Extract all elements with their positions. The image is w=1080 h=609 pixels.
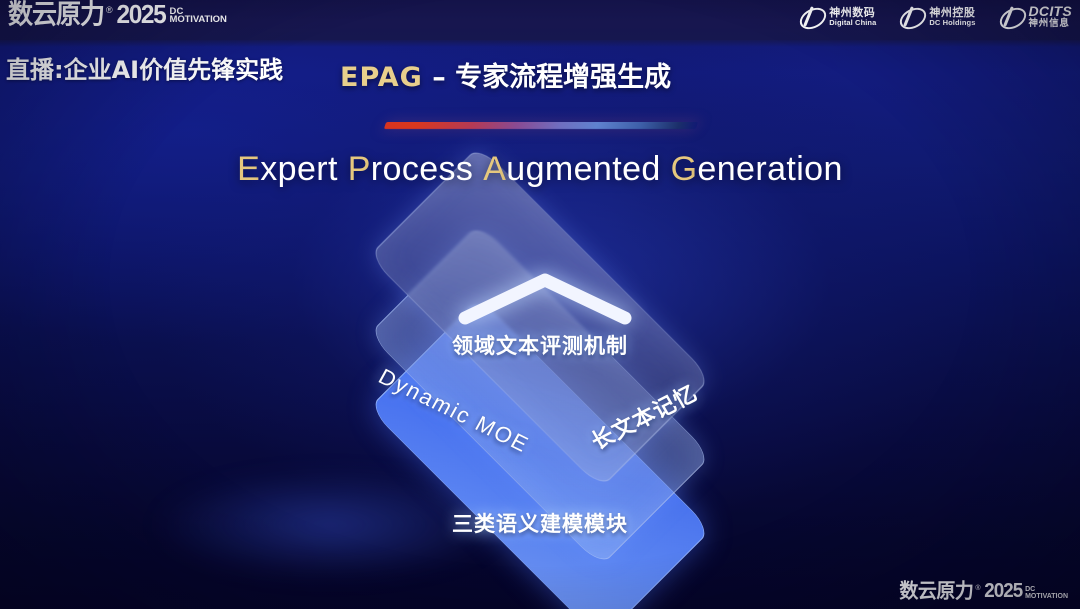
page-title: Expert Process Augmented Generation — [0, 150, 1080, 189]
title-rest-generation: eneration — [697, 150, 842, 188]
swirl-logo-icon — [798, 4, 824, 30]
title-rest-process: rocess — [371, 150, 474, 188]
event-logo-registered-mark: ® — [106, 6, 113, 15]
event-logo-motivation: MOTIVATION — [170, 16, 227, 25]
title-rest-augmented: ugmented — [506, 150, 660, 188]
event-logo: 数云原力 ® 2025 DC MOTIVATION — [8, 1, 227, 27]
slide-canvas: 数云原力 ® 2025 DC MOTIVATION 神州数码 Digital C… — [0, 0, 1080, 609]
diagram-label-bottom: 三类语义建模模块 — [0, 508, 1080, 538]
slide-headline: EPAG – 专家流程增强生成 — [340, 55, 671, 94]
partner-logo-dc-holdings: 神州控股 DC Holdings — [898, 4, 975, 30]
partner-logo-digital-china: 神州数码 Digital China — [798, 4, 876, 30]
title-cap-p: P — [348, 150, 371, 188]
partner-name-cn: 神州信息 — [1029, 19, 1073, 29]
watermark-registered-mark: ® — [975, 585, 980, 592]
watermark-motivation: MOTIVATION — [1025, 594, 1068, 600]
watermark-dc-motivation: DC MOTIVATION — [1025, 587, 1068, 600]
title-cap-e: E — [237, 150, 260, 188]
chevron-up-icon — [455, 270, 635, 326]
live-stream-label: 直播:企业AI价值先锋实践 — [6, 50, 283, 85]
partner-logo-dcits: DCITS 神州信息 — [998, 4, 1073, 30]
swirl-logo-icon — [998, 4, 1024, 30]
title-cap-g: G — [671, 150, 698, 188]
diagram-label-top: 领域文本评测机制 — [0, 330, 1080, 360]
event-logo-dc-motivation: DC MOTIVATION — [170, 8, 227, 25]
swirl-logo-icon — [898, 4, 924, 30]
watermark-logo: 数云原力 ® 2025 DC MOTIVATION — [899, 581, 1068, 601]
partner-name-en: DC Holdings — [929, 19, 975, 27]
partner-logo-bar: 神州数码 Digital China 神州控股 DC Holdings DCIT… — [798, 4, 1072, 30]
watermark-cn: 数云原力 — [899, 582, 973, 602]
title-rest-expert: xpert — [260, 150, 338, 188]
headline-subtitle: – 专家流程增强生成 — [423, 62, 671, 93]
headline-acronym: EPAG — [340, 62, 423, 93]
event-logo-year: 2025 — [116, 1, 165, 27]
event-logo-cn: 数云原力 — [8, 1, 104, 28]
watermark-year: 2025 — [984, 581, 1022, 601]
title-cap-a: A — [483, 150, 506, 188]
gradient-divider — [384, 122, 698, 129]
partner-name-en: Digital China — [829, 19, 876, 27]
